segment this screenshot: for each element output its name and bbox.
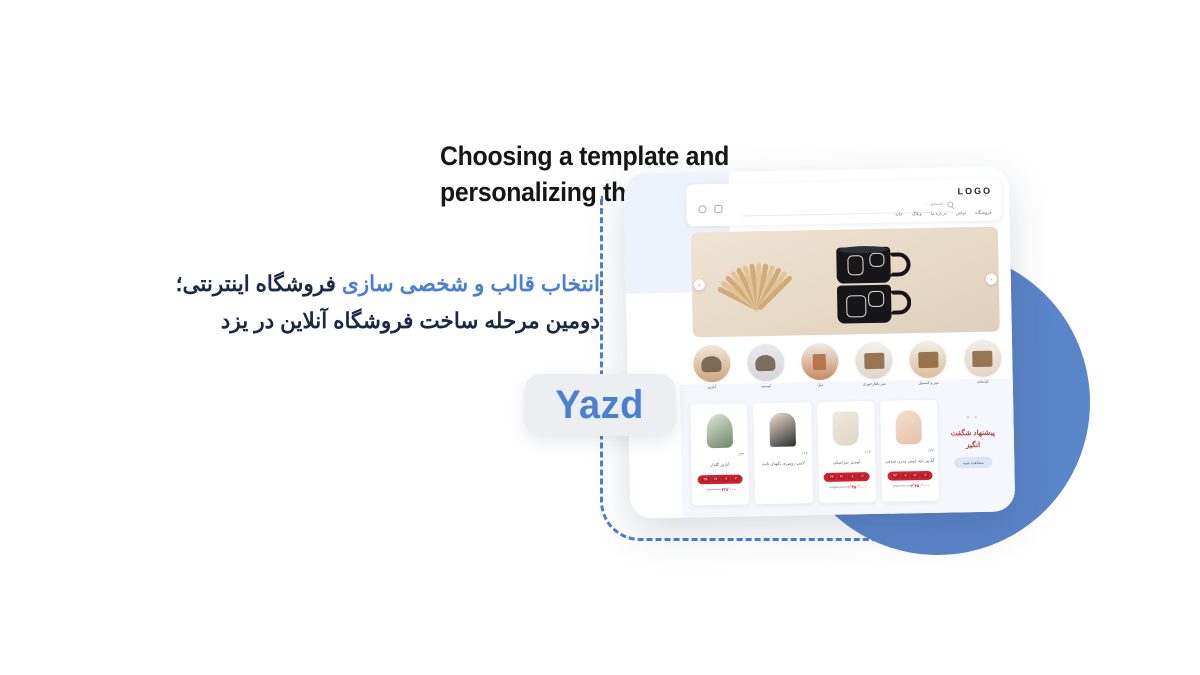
product-card[interactable]: ٪۲۴آباژور پایه چوبی مدرن صدفی۰۲۱۲۰۶۲۳۳٬۲…	[880, 400, 939, 502]
product-old-price: ۳٬۲۰۰٬۰۰۰	[893, 483, 911, 488]
timer-unit: ۳۵	[701, 477, 709, 483]
bookshelf-icon	[963, 340, 1001, 378]
cart-icon[interactable]	[714, 205, 722, 213]
product-name: لامپ رومیزی نگهبان نایت	[759, 460, 808, 471]
product-price: ۳٬۲۰۰٬۰۰۰۲٬۴۵۰٬۰۰۰	[885, 483, 934, 489]
product-image	[884, 404, 934, 451]
yazd-badge: Yazd	[524, 374, 676, 436]
countdown-timer: ۰۲۱۲۰۶۲۳	[887, 471, 932, 481]
timer-unit: ۰۴	[731, 476, 739, 482]
page-title-persian-rest: فروشگاه اینترنتی؛	[176, 272, 342, 296]
mug-pattern-b	[869, 253, 884, 267]
chandelier-icon	[747, 344, 785, 382]
countdown-timer: ۰۳۰۸۴۱۲۲	[824, 472, 869, 482]
category-list: کتابخانهمیز و کنسولمیز ناهارخوریمبللوستر…	[689, 339, 1005, 387]
product-card[interactable]: ٪۳۲آباژور گلدار۰۴۰۹۱۷۳۵۸۹۰٬۰۰۰۶۲۸٬۰۰۰	[690, 403, 749, 505]
nav-item-1[interactable]: تماس	[956, 210, 967, 216]
mug-pattern-d	[868, 291, 884, 307]
category-item-5[interactable]: آباژور	[689, 345, 734, 388]
site-header: LOGO جستجو ... فروشگاه تماس درباره ما وب…	[686, 178, 1002, 226]
mug-handle-lower	[889, 290, 911, 314]
nav-item-0[interactable]: فروشگاه	[975, 210, 992, 216]
search-placeholder: جستجو ...	[926, 201, 943, 206]
product-price: ۱٬۵۴۰٬۰۰۰۱٬۳۵۰٬۰۰۰	[822, 484, 871, 490]
promo-view-all-button[interactable]: مشاهده همه	[954, 456, 992, 468]
yazd-badge-label: Yazd	[556, 383, 644, 428]
console-table-icon	[909, 341, 947, 379]
site-nav: فروشگاه تماس درباره ما وبلاگ خانه	[895, 210, 991, 218]
page-title-persian: انتخاب قالب و شخصی سازی فروشگاه اینترنتی…	[130, 266, 600, 340]
site-logo[interactable]: LOGO	[958, 186, 993, 197]
category-label: مبل	[798, 382, 842, 388]
timer-unit: ۰۸	[848, 474, 856, 480]
product-card[interactable]: ٪۱۸لامپ رومیزی نگهبان نایت	[753, 402, 812, 504]
discount-badge: ٪۳۲	[738, 451, 745, 456]
poster-canvas: Choosing a template and personalizing th…	[0, 0, 1200, 675]
countdown-timer: ۰۴۰۹۱۷۳۵	[698, 474, 743, 484]
nav-item-4[interactable]: خانه	[895, 211, 903, 217]
product-old-price: ۱٬۵۴۰٬۰۰۰	[829, 484, 847, 489]
category-item-1[interactable]: میز و کنسول	[906, 340, 951, 383]
product-price: ۸۹۰٬۰۰۰۶۲۸٬۰۰۰	[696, 486, 745, 492]
mug-handle-upper	[888, 252, 910, 276]
carousel-next-icon[interactable]: ›	[986, 274, 997, 285]
user-icon[interactable]	[698, 205, 706, 213]
nav-item-2[interactable]: درباره ما	[931, 211, 947, 217]
category-item-3[interactable]: مبل	[797, 343, 842, 386]
product-name: لوستر سرامیکی	[822, 459, 871, 470]
product-image	[757, 406, 807, 453]
product-cards: ٪۲۴آباژور پایه چوبی مدرن صدفی۰۲۱۲۰۶۲۳۳٬۲…	[690, 400, 939, 506]
nav-item-3[interactable]: وبلاگ	[912, 211, 922, 217]
category-item-2[interactable]: میز ناهارخوری	[852, 342, 897, 385]
timer-unit: ۱۷	[711, 477, 719, 483]
discount-badge: ٪۱۸	[801, 450, 808, 455]
mug-pattern-c	[846, 295, 866, 317]
palm-leaf-decoration	[709, 227, 807, 315]
product-image	[821, 405, 871, 452]
category-label: کتابخانه	[961, 378, 1005, 384]
promo-panel: • • پیشنهاد شگفت انگیز مشاهده همه	[943, 399, 1003, 501]
timer-unit: ۲۲	[828, 474, 836, 480]
floor-lamp-icon	[693, 345, 731, 383]
category-item-0[interactable]: کتابخانه	[960, 339, 1005, 382]
search-icon	[947, 201, 953, 207]
timer-unit: ۰۶	[901, 473, 909, 479]
tablet-device-mockup: LOGO جستجو ... فروشگاه تماس درباره ما وب…	[624, 166, 1016, 518]
promo-dots: • •	[943, 415, 1001, 422]
category-label: لوستر	[744, 383, 788, 389]
product-name: آباژور پایه چوبی مدرن صدفی	[885, 458, 934, 469]
product-image	[694, 407, 744, 454]
timer-unit: ۲۳	[891, 473, 899, 479]
page-subtitle-persian: دومین مرحله ساخت فروشگاه آنلاین در یزد	[130, 303, 600, 340]
mug-pattern-a	[847, 255, 863, 275]
timer-unit: ۴۱	[838, 474, 846, 480]
category-label: میز ناهارخوری	[852, 381, 896, 387]
stool-icon	[801, 343, 839, 381]
category-label: آباژور	[690, 384, 734, 390]
website-preview: LOGO جستجو ... فروشگاه تماس درباره ما وب…	[624, 166, 1016, 518]
hero-banner[interactable]: ‹ ›	[691, 227, 1000, 338]
product-name: آباژور گلدار	[695, 461, 744, 472]
timer-unit: ۰۹	[721, 476, 729, 482]
timer-unit: ۰۳	[858, 474, 866, 480]
category-item-4[interactable]: لوستر	[743, 344, 788, 387]
timer-unit: ۰۲	[921, 473, 929, 479]
product-old-price: ۸۹۰٬۰۰۰	[707, 487, 722, 492]
page-title-persian-accent: انتخاب قالب و شخصی سازی	[342, 272, 600, 296]
product-strip: • • پیشنهاد شگفت انگیز مشاهده همه ٪۲۴آبا…	[690, 398, 1007, 505]
promo-title: پیشنهاد شگفت انگیز	[944, 427, 1002, 450]
carousel-prev-icon[interactable]: ‹	[694, 279, 705, 290]
discount-badge: ٪۲۴	[928, 448, 935, 453]
product-card[interactable]: ٪۱۲لوستر سرامیکی۰۳۰۸۴۱۲۲۱٬۵۴۰٬۰۰۰۱٬۳۵۰٬۰…	[817, 401, 876, 503]
discount-badge: ٪۱۲	[864, 449, 871, 454]
dining-table-icon	[855, 342, 893, 380]
timer-unit: ۱۲	[911, 473, 919, 479]
category-label: میز و کنسول	[907, 379, 951, 385]
